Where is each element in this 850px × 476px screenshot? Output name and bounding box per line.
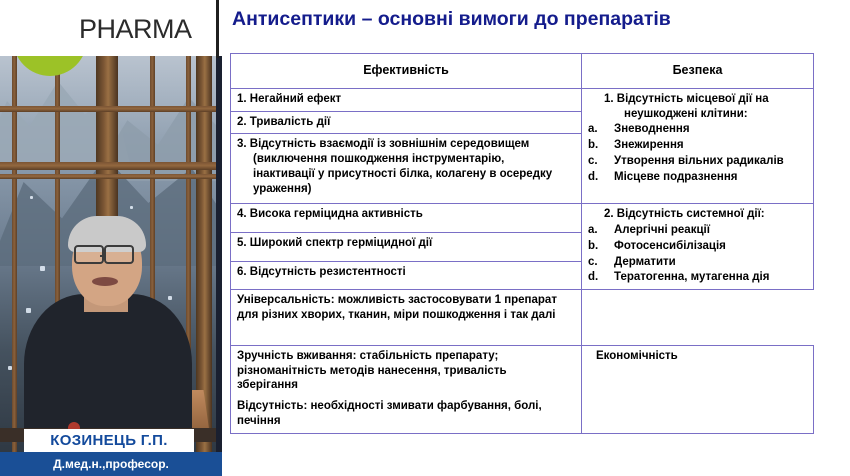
- effectiveness-item-4: 4. Висока гермiцидна активність: [231, 204, 582, 233]
- effectiveness-universality: Універсальність: можливість застосовуват…: [231, 290, 582, 346]
- effectiveness-absence-cont: печіння: [237, 414, 575, 429]
- safety-marker: c.: [588, 154, 614, 169]
- requirements-table: Ефективність Безпека 1. Негайний ефект 1…: [230, 53, 814, 434]
- table-row: Зручність вживання: стабільність препара…: [231, 346, 814, 434]
- column-header-safety: Безпека: [582, 54, 814, 89]
- safety-group-2-heading: 2. Відсутність системної дії:: [588, 207, 807, 222]
- effectiveness-universality-text: Універсальність: можливість застосовуват…: [237, 294, 557, 306]
- column-header-effectiveness: Ефективність: [231, 54, 582, 89]
- list-item: c.Дерматити: [588, 255, 807, 270]
- glasses-bridge-icon: [100, 255, 106, 257]
- effectiveness-item-3-cont-3: ураження): [237, 182, 575, 197]
- safety-group-2: 2. Відсутність системної дії: a.Алергічн…: [582, 204, 814, 290]
- table-row: 1. Негайний ефект 1. Відсутність місцево…: [231, 89, 814, 112]
- safety-item-text: Місцеве подразнення: [614, 170, 807, 185]
- effectiveness-convenience-cont-2: зберігання: [237, 378, 575, 393]
- presenter-name-banner: КОЗИНЕЦЬ Г.П.: [24, 429, 194, 452]
- presenter-title-banner: Д.мед.н.,професор.: [0, 452, 222, 476]
- list-item: a.Зневоднення: [588, 122, 807, 137]
- safety-item-text: Тератогенна, мутагенна дія: [614, 270, 807, 285]
- table-header-row: Ефективність Безпека: [231, 54, 814, 89]
- window-mullion-horizontal: [0, 162, 216, 170]
- table-row: 4. Висока гермiцидна активність 2. Відсу…: [231, 204, 814, 233]
- effectiveness-item-3-text: 3. Відсутність взаємодії із зовнішнім се…: [237, 137, 575, 152]
- effectiveness-item-2: 2. Тривалість дії: [231, 111, 582, 134]
- list-item: d.Місцеве подразнення: [588, 170, 807, 185]
- video-background-scene: [0, 56, 216, 476]
- safety-item-text: Алергічні реакції: [614, 223, 807, 238]
- safety-marker: a.: [588, 122, 614, 137]
- effectiveness-convenience-cont-1: різноманітність методів нанесення, трива…: [237, 364, 575, 379]
- safety-economy: Економічність: [582, 346, 814, 434]
- safety-economy-text: Економічність: [588, 349, 807, 364]
- presenter-title: Д.мед.н.,професор.: [53, 457, 169, 471]
- safety-marker: c.: [588, 255, 614, 270]
- effectiveness-item-1-text: 1. Негайний ефект: [237, 93, 341, 105]
- page-title: Антисептики – основні вимоги до препарат…: [232, 8, 832, 31]
- window-mullion-vertical: [12, 56, 17, 476]
- brand-logo-pro: PRO: [22, 14, 79, 44]
- safety-marker: b.: [588, 239, 614, 254]
- safety-marker: a.: [588, 223, 614, 238]
- list-item: b.Фотосенсибілізація: [588, 239, 807, 254]
- brand-logo-pharma: PHARMA: [79, 14, 192, 44]
- safety-item-text: Зневоднення: [614, 122, 807, 137]
- effectiveness-item-6: 6. Відсутність резистентності: [231, 261, 582, 290]
- list-item: d.Тератогенна, мутагенна дія: [588, 270, 807, 285]
- effectiveness-item-1: 1. Негайний ефект: [231, 89, 582, 112]
- safety-item-text: Дерматити: [614, 255, 807, 270]
- effectiveness-item-3-cont-1: (виключення пошкодження інструментарію,: [237, 152, 575, 167]
- presenter-name: КОЗИНЕЦЬ Г.П.: [50, 432, 167, 449]
- safety-marker: d.: [588, 170, 614, 185]
- effectiveness-item-5-text: 5. Широкий спектр гермiцидної дії: [237, 237, 432, 249]
- safety-group-1: 1. Відсутність місцевої дії на неушкодже…: [582, 89, 814, 204]
- effectiveness-item-3: 3. Відсутність взаємодії із зовнішнім се…: [231, 134, 582, 204]
- list-item: a.Алергічні реакції: [588, 223, 807, 238]
- effectiveness-item-5: 5. Широкий спектр гермiцидної дії: [231, 232, 582, 261]
- glasses-icon: [104, 245, 134, 264]
- safety-group-1-heading-cont: неушкоджені клітини:: [588, 107, 807, 122]
- logo-divider: [216, 0, 219, 58]
- effectiveness-item-6-text: 6. Відсутність резистентності: [237, 266, 406, 278]
- effectiveness-convenience-text: Зручність вживання: стабільність препара…: [237, 350, 498, 362]
- window-mullion-horizontal: [0, 174, 216, 179]
- presenter-figure: [18, 204, 198, 434]
- effectiveness-item-4-text: 4. Висока гермiцидна активність: [237, 208, 423, 220]
- presenter-mouth: [92, 277, 118, 286]
- list-item: b.Знежирення: [588, 138, 807, 153]
- effectiveness-universality-cont: для різних хворих, тканин, міри пошкодже…: [237, 308, 575, 323]
- table-row: Універсальність: можливість застосовуват…: [231, 290, 814, 346]
- presenter-torso: [24, 294, 192, 434]
- safety-marker: d.: [588, 270, 614, 285]
- safety-group-1-heading: 1. Відсутність місцевої дії на: [588, 92, 807, 107]
- effectiveness-item-3-cont-2: інактивації у присутності білка, колаген…: [237, 167, 575, 182]
- effectiveness-absence-text: Відсутність: необхідності змивати фарбув…: [237, 399, 575, 414]
- safety-item-text: Утворення вільних радикалів: [614, 154, 807, 169]
- safety-marker: b.: [588, 138, 614, 153]
- effectiveness-convenience: Зручність вживання: стабільність препара…: [231, 346, 582, 434]
- list-item: c.Утворення вільних радикалів: [588, 154, 807, 169]
- slide-area: Антисептики – основні вимоги до препарат…: [222, 0, 850, 476]
- window-mullion-horizontal: [0, 106, 216, 112]
- brand-logo: PROPHARMA: [22, 16, 192, 43]
- safety-item-text: Фотосенсибілізація: [614, 239, 807, 254]
- effectiveness-item-2-text: 2. Тривалість дії: [237, 116, 330, 128]
- safety-item-text: Знежирення: [614, 138, 807, 153]
